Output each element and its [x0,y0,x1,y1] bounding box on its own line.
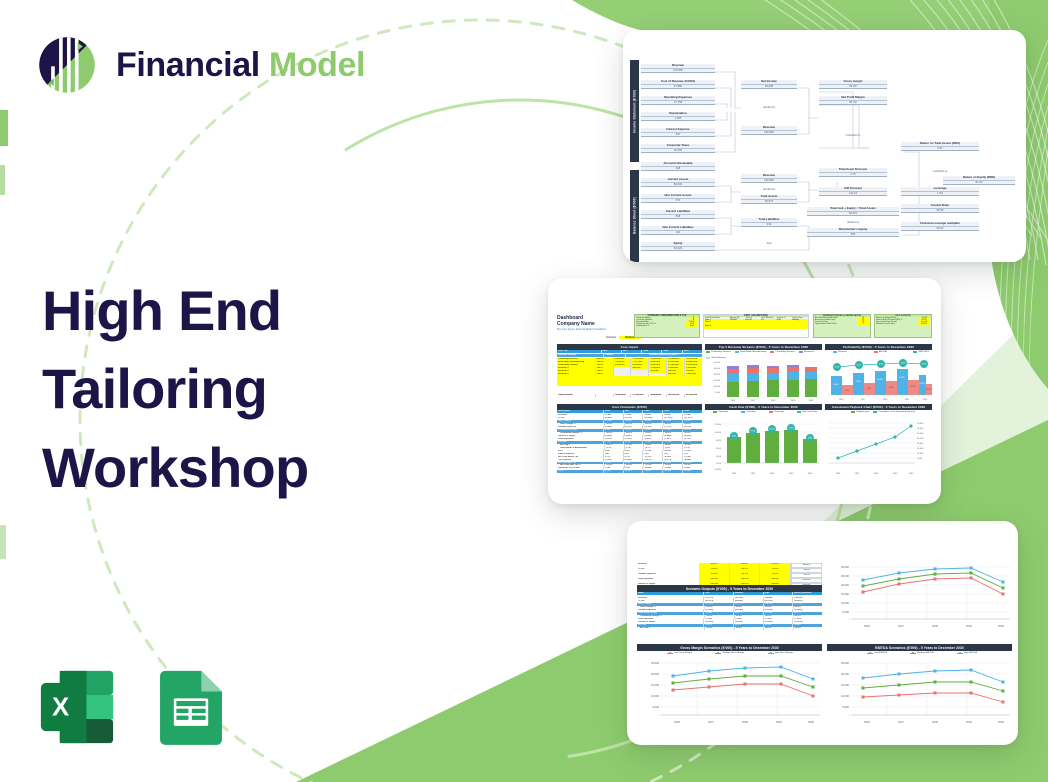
svg-text:2030: 2030 [998,624,1004,628]
legend-item: Performing Services [706,351,731,353]
brand-wordmark: Financial Model [116,48,365,82]
dupont-operator: divided by [741,106,797,109]
core-financials-table: Revenue19,60027,90038,40049,16061,500 CO… [557,414,702,473]
dupont-node: Revenue 136,800 [641,64,715,73]
legend-item: EBITDA [874,351,887,353]
title-line-2: Tailoring [42,350,402,428]
svg-text:-: - [719,397,720,399]
chart-legend-investment-payback: Payback year Cumulative Cash Generated (… [843,411,923,413]
svg-text:13,495: 13,495 [788,428,793,430]
panel-debt-assumptions: DEBT ASSUMPTIONS Loan/Grant Name Amount … [703,314,809,338]
svg-text:8,000: 8,000 [716,440,722,442]
svg-text:2029: 2029 [789,473,794,475]
scenario-outputs-header: Ratio Low Medium High Active (Medium) [637,592,822,595]
svg-text:15,000: 15,000 [841,683,849,687]
svg-text:61,500: 61,500 [919,383,924,385]
svg-text:15,000: 15,000 [841,592,849,596]
legend-item: Net Cash Flow [797,411,817,413]
svg-text:12,768: 12,768 [889,387,894,389]
svg-text:1,000: 1,000 [716,463,722,465]
dashboard-sheet: Dashboard Company Name By Lorem Ipsum, F… [548,278,941,504]
brand-lockup: Financial Model [34,32,365,98]
svg-text:20,000: 20,000 [714,380,721,382]
svg-text:2029: 2029 [776,720,782,724]
dupont-operator: divided by [741,188,797,191]
svg-text:20,000: 20,000 [651,672,659,676]
svg-text:2026: 2026 [674,720,680,724]
chart-plot-revenue-streams: 50,00040,000 30,00020,000 10,0005,000- [705,360,822,402]
svg-text:2030: 2030 [923,399,928,401]
slide-canvas: Financial Model High End Tailoring Works… [0,0,1048,782]
svg-text:2027: 2027 [855,473,860,475]
chart-legend-revenue-streams: Performing Services Small Batch Manufact… [706,351,822,359]
svg-text:25,000: 25,000 [841,661,849,665]
dupont-operator: divided by [819,221,887,224]
svg-text:X: X [52,694,69,722]
scenario-outputs-band: Scenario Outputs ($'000) - 5 Years to De… [637,585,822,592]
svg-text:17,103: 17,103 [911,386,916,388]
svg-text:20,000: 20,000 [917,448,924,450]
dupont-node: Return on Total Assets (ROA) 0.97 [901,142,979,151]
svg-text:2030: 2030 [909,473,914,475]
panel-row-label: Maximum Cash Deficit [876,323,895,325]
legend-item: Operating [713,411,728,413]
dupont-side-label-income-statement: Income Statement ($'000) [630,60,639,162]
panel-row-label: Depreciation Useful Years [815,323,837,325]
dupont-node: Non Current Assets 570 [641,194,715,203]
scenario-sheet: Revenue 80.0% 100.0% 120.0% 100.0% COGS … [627,521,1018,745]
chart-title-revenue-streams: Top 5 Revenue Streams ($'000) - 5 Years … [705,344,822,350]
chart-title-gross-margin-scenarios: Gross Margin Scenarios ($'000) - 5 Years… [637,644,822,651]
svg-text:49,160: 49,160 [899,377,904,379]
svg-text:10,000: 10,000 [841,694,849,698]
core-inputs-subheader: Revenue streams Launch Revenue Forecast … [557,354,702,357]
svg-text:(2,000): (2,000) [714,469,721,471]
cell: Term 3 [704,325,808,329]
svg-text:30,000: 30,000 [841,565,849,569]
dashboard-company-name: Company Name [557,321,606,327]
svg-text:2027: 2027 [898,624,904,628]
scenario-outputs-table: Revenue157,120196,560235,880196,560 COGS… [637,597,822,630]
svg-text:2028: 2028 [883,399,888,401]
dupont-sheet: Income Statement ($'000) Balance Sheet (… [623,30,1026,262]
svg-text:5,000: 5,000 [843,705,850,709]
dupont-node: Financial Leverage multiplier 63.22 [901,222,979,231]
svg-text:2026: 2026 [864,624,870,628]
supported-apps: X [34,664,234,750]
legend-item: Payback year [851,411,869,413]
title-line-1: High End [42,272,402,350]
dupont-node: Corporate Taxes 20,626 [641,144,715,153]
dupont-node: Depreciation 1,365 [641,112,715,121]
svg-text:2026: 2026 [836,473,841,475]
legend-item: EBITDA % [913,351,929,353]
svg-text:25,000: 25,000 [841,574,849,578]
dupont-side-label-balance-sheet: Balance Sheet ($'000) [630,170,639,262]
svg-text:2027: 2027 [861,399,866,401]
legend-item: High EBITDA [957,652,977,654]
legend-item: Consulting Services [770,351,795,353]
svg-text:2030: 2030 [808,720,814,724]
svg-text:5,720: 5,720 [845,390,849,392]
legend-item: High Gross Margin [768,652,793,654]
svg-text:33.3%: 33.3% [879,364,884,366]
svg-text:10,000: 10,000 [651,694,659,698]
svg-text:20,000: 20,000 [841,583,849,587]
svg-text:2027: 2027 [708,720,714,724]
legend-item: Medium EBITDA [910,652,933,654]
legend-item: Small Batch Manufacturing [735,351,766,353]
dupont-analysis-screenshot[interactable]: Income Statement ($'000) Balance Sheet (… [623,30,1026,262]
legend-item: Cumulative Cash Generated (Source) [873,411,915,413]
table-row: Cash4,46410,43018,40229,20544,083 [557,470,702,473]
scenario-outputs-screenshot[interactable]: Revenue 80.0% 100.0% 120.0% 100.0% COGS … [627,521,1018,745]
chart-legend-gross-margin-scenarios: Low Gross Margin Medium Gross Margin Hig… [667,652,793,654]
chart-legend-cash-flow: Operating Investing Financing Net Cash F… [713,411,817,413]
dupont-node: Total Liab + Equity = Total Assets 50,57… [807,207,899,216]
chart-plot-revenue-scenarios: 30,00025,000 20,00015,000 10,0005,000- 2… [827,561,1012,631]
svg-text:50,000: 50,000 [714,362,721,364]
svg-text:10,000: 10,000 [841,601,849,605]
svg-text:10,782: 10,782 [769,429,774,431]
svg-text:70,000: 70,000 [917,423,924,425]
svg-text:2027: 2027 [751,400,756,402]
panel-working-capital: WORKING CAPITAL & DEPRECIATION Accounts … [813,314,871,338]
svg-text:6,540: 6,540 [732,436,736,438]
svg-text:2026: 2026 [839,399,844,401]
svg-text:2030: 2030 [809,400,814,402]
panel-row-label: Corporation % [636,325,649,327]
chart-legend-ebitda-scenarios: Low EBITDA Medium EBITDA High EBITDA [867,652,977,654]
scenario-label: Scenario [606,336,616,339]
dupont-operator: multiplied by [901,170,979,173]
financial-model-logo-icon [34,32,100,98]
svg-text:2028: 2028 [770,473,775,475]
dupont-node: Current Liabilities 848 [641,210,715,219]
panel-row-value: 5 [858,323,869,325]
chart-title-profitability: Profitability ($'000) - 5 Years to Decem… [825,344,932,350]
svg-text:2029: 2029 [966,624,972,628]
chart-legend-profitability: Revenue EBITDA EBITDA % [833,351,929,353]
dupont-node: Equity 49,629 [641,242,715,251]
brand-word-financial: Financial [116,46,260,84]
chart-title-ebitda-scenarios: EBITDA Scenarios ($'000) - 5 Years to De… [827,644,1012,651]
svg-text:60,000: 60,000 [917,428,924,430]
legend-item: Financing [769,411,784,413]
svg-text:15,000: 15,000 [651,683,659,687]
core-inputs-table: Performing Services Mar-26 9,000,000 12,… [557,358,702,386]
svg-text:50,000: 50,000 [917,433,924,435]
dupont-node: Accounts Receivable 948 [641,162,715,171]
svg-text:10,000: 10,000 [917,453,924,455]
chart-plot-profitability: 29.2%31.3% 33.3%34.8%35.9% 19,60027,900 … [825,358,932,402]
svg-text:27,900: 27,900 [855,381,860,383]
chart-plot-gross-margin-scenarios: 25,00020,000 15,00010,000 5,000- 2026202… [637,657,822,727]
svg-text:-: - [848,714,849,717]
svg-text:2026: 2026 [731,400,736,402]
dupont-node: Net Income 48,628 [741,80,797,89]
legend-item: Revenue [833,351,847,353]
svg-text:8,368: 8,368 [808,438,812,440]
legend-item: Investing [741,411,755,413]
svg-text:2030: 2030 [998,720,1004,724]
svg-text:29.2%: 29.2% [835,367,840,369]
svg-text:2028: 2028 [932,720,938,724]
panel-key-outputs: KEY OUTPUTS Return on Equity (ROE) 61.03… [874,314,932,338]
svg-text:38,400: 38,400 [877,379,882,381]
dupont-node: Non Current Liabilities 101 [641,226,715,235]
panel-currency-denomination: CURRENCY DENOMINATION & TAX Currency Nam… [634,314,700,338]
svg-text:10,000: 10,000 [715,432,722,434]
financial-dashboard-screenshot[interactable]: Dashboard Company Name By Lorem Ipsum, F… [548,278,941,504]
dupont-node: Revenue 136,800 [741,174,797,183]
svg-text:12,000: 12,000 [715,424,722,426]
chart-title-cash-flow: Cash flow ($'000) - 5 Years to December … [705,404,822,410]
dupont-node: A/R Turnover 144.24 [819,187,887,196]
svg-text:2028: 2028 [932,624,938,628]
dashboard-subtitle: By Lorem Ipsum, Financial Model Consulta… [557,328,606,331]
svg-text:2029: 2029 [905,399,910,401]
chart-plot-cash-flow: 12,00010,000 8,0006,000 4,0001,000(2,000… [705,418,822,476]
chart-plot-investment-payback: 70,00060,000 50,00040,000 30,00020,000 1… [825,418,932,476]
svg-text:30,000: 30,000 [714,374,721,376]
legend-item: Revenue 4 [799,351,815,353]
svg-text:34.8%: 34.8% [901,363,906,365]
svg-text:2026: 2026 [732,473,737,475]
table-row: EBITDA %29.6%33.8%36.5%33.8% [637,627,822,630]
svg-text:10,000: 10,000 [714,386,721,388]
svg-text:2028: 2028 [742,720,748,724]
dupont-node: Cost of Revenue (COGS) 47,880 [641,80,715,89]
svg-text:25,000: 25,000 [651,661,659,665]
svg-text:30,000: 30,000 [917,443,924,445]
dupont-operator: multiplied by [819,134,887,137]
svg-text:40,000: 40,000 [917,438,924,440]
svg-text:31.3%: 31.3% [857,365,862,367]
dupont-node: Leverage 1.0% [901,187,979,196]
dupont-node: Total Assets 50,576 [741,195,797,204]
table-row [557,381,702,386]
page-title: High End Tailoring Workshop [42,272,402,507]
svg-text:5,000: 5,000 [715,392,721,394]
dupont-node: Gross margin 65.0% [819,80,887,89]
dashboard-title-block: Dashboard Company Name By Lorem Ipsum, F… [557,315,606,331]
dupont-node: Revenue 136,800 [741,126,797,135]
dupont-node: Current Assets 50,006 [641,178,715,187]
svg-text:22,093: 22,093 [927,389,932,391]
svg-text:2029: 2029 [791,400,796,402]
dupont-node: Net Profit Margin 35.7% [819,96,887,105]
svg-text:2030: 2030 [808,473,813,475]
svg-text:5,000: 5,000 [843,610,850,614]
svg-text:5,000: 5,000 [653,705,660,709]
core-financials-header: Description 2026 2027 2028 2029 2030 [557,410,702,413]
svg-text:-: - [917,464,918,466]
dupont-node: Total Asset Turnover 2.70 [819,168,887,177]
brand-word-model: Model [269,46,365,84]
svg-text:2027: 2027 [898,720,904,724]
svg-text:8,730: 8,730 [867,388,871,390]
google-sheets-icon [148,664,234,750]
svg-text:2028: 2028 [874,473,879,475]
svg-text:19,600: 19,600 [833,384,838,386]
svg-text:2027: 2027 [751,473,756,475]
svg-text:2026: 2026 [864,720,870,724]
panel-row-value: 30% [686,325,698,327]
core-inputs-total-row: Total Revenue 19,600,000 27,900,000 38,4… [557,394,702,397]
title-line-3: Workshop [42,429,402,507]
dupont-node: Operating Expenses 17,758 [641,96,715,105]
microsoft-excel-icon: X [34,664,120,750]
svg-text:2028: 2028 [771,400,776,402]
dupont-node: Interest Expense 527 [641,128,715,137]
svg-text:40,000: 40,000 [714,368,721,370]
dupont-node: Current Ratio 58.98 [901,204,979,213]
svg-text:2029: 2029 [966,720,972,724]
svg-text:-: - [658,714,659,717]
dupont-operator: Add [741,242,797,245]
legend-item: Low Gross Margin [667,652,692,654]
dupont-node: Total Liabilities 949 [741,218,797,227]
svg-text:2029: 2029 [893,473,898,475]
svg-text:20,000: 20,000 [841,672,849,676]
svg-text:10,430: 10,430 [750,431,755,433]
svg-text:-: - [848,618,849,621]
legend-item: Medium Gross Margin [715,652,744,654]
chart-plot-ebitda-scenarios: 25,00020,000 15,00010,000 5,000- 2026202… [827,657,1012,727]
dupont-node: Shareholder's Equity 800 [807,228,899,237]
panel-row-value: 1,093.0 [918,323,930,325]
svg-text:5,000: 5,000 [917,458,923,460]
svg-text:4,000: 4,000 [716,456,722,458]
chart-title-investment-payback: Investment Payback Chart ($'000) - 5 Yea… [825,404,932,410]
svg-text:35.9%: 35.9% [922,364,927,366]
legend-item: Low EBITDA [867,652,887,654]
core-inputs-header: Core Tier 2026 2027 2028 2029 2030 [557,350,702,353]
dupont-final-node: Return on Equity (ROE) 61.03 [943,176,1015,185]
svg-text:6,000: 6,000 [716,448,722,450]
